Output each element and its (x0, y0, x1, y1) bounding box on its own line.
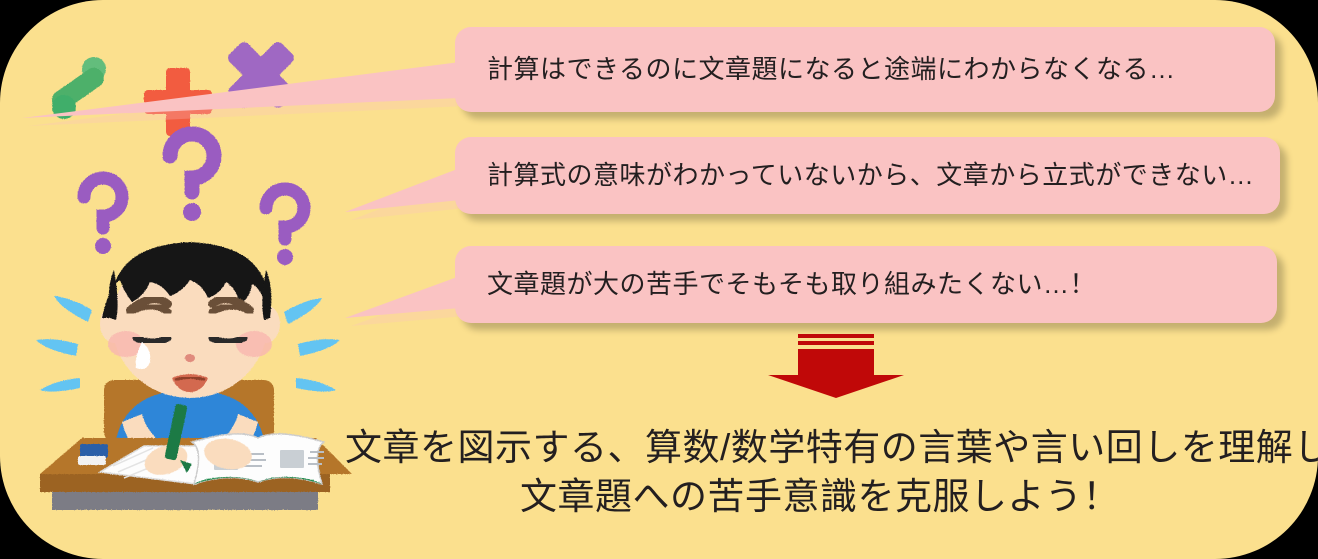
speech-bubble-2-text: 計算式の意味がわかっていないから、文章から立式ができない… (455, 160, 1254, 191)
speech-bubble-1-text: 計算はできるのに文章題になると途端にわからなくなる… (455, 54, 1175, 85)
screenshot-root: 計算はできるのに文章題になると途端にわからなくなる… 計算式の意味がわかっていな… (0, 0, 1318, 559)
speech-bubble-3: 文章題が大の苦手でそもそも取り組みたくない…！ (455, 246, 1277, 323)
speech-bubble-2: 計算式の意味がわかっていないから、文章から立式ができない… (455, 137, 1280, 214)
down-arrow-icon (760, 334, 908, 398)
conclusion-line-2: 文章題への苦手意識を克服しよう！ (345, 473, 1295, 522)
rounded-yellow-panel: 計算はできるのに文章題になると途端にわからなくなる… 計算式の意味がわかっていな… (0, 0, 1318, 559)
conclusion-text: 文章を図示する、算数/数学特有の言葉や言い回しを理解して 文章題への苦手意識を克… (345, 424, 1295, 522)
conclusion-line-1: 文章を図示する、算数/数学特有の言葉や言い回しを理解して (345, 424, 1295, 473)
speech-bubble-1: 計算はできるのに文章題になると途端にわからなくなる… (455, 27, 1275, 112)
speech-bubble-3-text: 文章題が大の苦手でそもそも取り組みたくない…！ (455, 269, 1096, 300)
